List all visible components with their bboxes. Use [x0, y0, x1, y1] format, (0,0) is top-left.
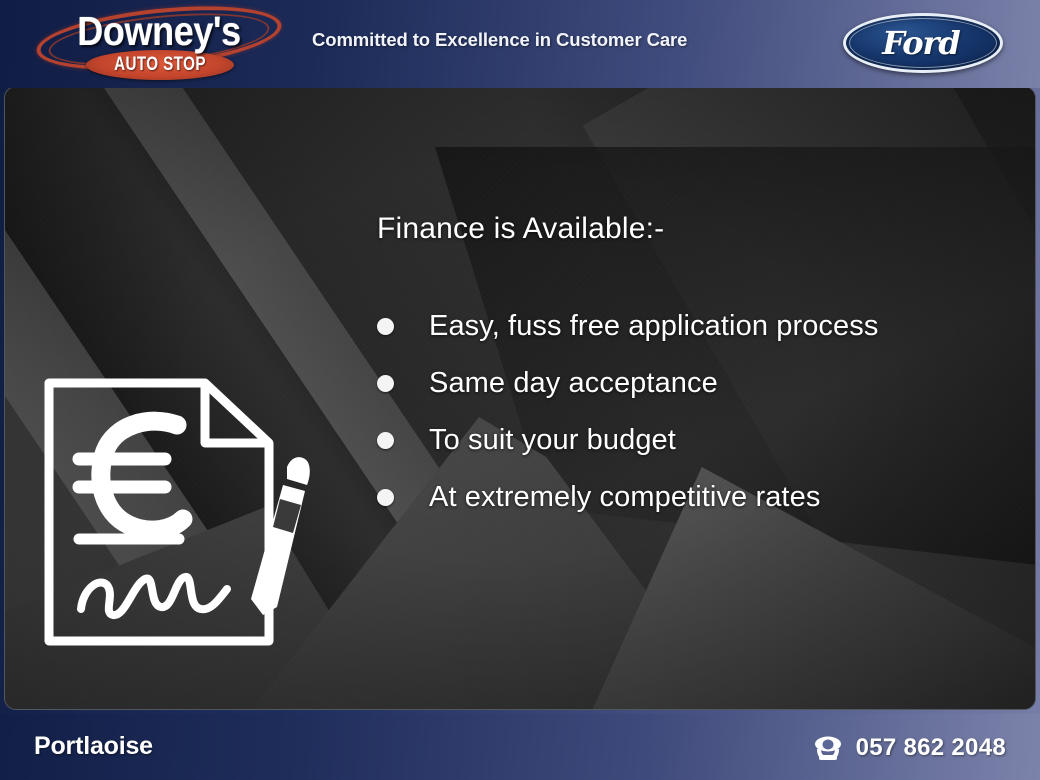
- list-item-label: Same day acceptance: [429, 367, 718, 399]
- list-item: Same day acceptance: [377, 355, 1027, 412]
- list-item: Easy, fuss free application process: [377, 298, 1027, 355]
- list-item: To suit your budget: [377, 412, 1027, 469]
- list-item-label: Easy, fuss free application process: [429, 310, 878, 342]
- contact-phone[interactable]: 057 862 2048: [813, 734, 1006, 762]
- finance-copy-block: Finance is Available:- Easy, fuss free a…: [377, 212, 1027, 526]
- telephone-icon: [813, 735, 843, 761]
- advert-banner: Downey's AUTO STOP Committed to Excellen…: [0, 0, 1040, 780]
- dealer-logo-subname: AUTO STOP: [101, 50, 219, 80]
- tagline-text: Committed to Excellence in Customer Care: [312, 29, 687, 51]
- list-item: At extremely competitive rates: [377, 469, 1027, 526]
- euro-document-signature-icon: [37, 367, 317, 657]
- bullet-dot-icon: [377, 375, 394, 392]
- list-item-label: At extremely competitive rates: [429, 481, 820, 513]
- footer-bar: Portlaoise 057 862 2048: [0, 714, 1040, 780]
- bullet-dot-icon: [377, 489, 394, 506]
- branch-location-label: Portlaoise: [34, 732, 153, 761]
- benefits-list: Easy, fuss free application process Same…: [377, 298, 1027, 526]
- list-item-label: To suit your budget: [429, 424, 676, 456]
- ford-logo[interactable]: Ford: [843, 13, 1003, 73]
- main-panel: Finance is Available:- Easy, fuss free a…: [4, 86, 1036, 710]
- headline-text: Finance is Available:-: [377, 212, 1027, 246]
- phone-number-text: 057 862 2048: [856, 734, 1006, 762]
- panel-content: Finance is Available:- Easy, fuss free a…: [5, 87, 1035, 709]
- bullet-dot-icon: [377, 432, 394, 449]
- bullet-dot-icon: [377, 318, 394, 335]
- dealer-logo[interactable]: Downey's AUTO STOP: [34, 5, 284, 83]
- ford-logo-text: Ford: [843, 13, 1003, 73]
- header-bar: Downey's AUTO STOP Committed to Excellen…: [0, 0, 1040, 88]
